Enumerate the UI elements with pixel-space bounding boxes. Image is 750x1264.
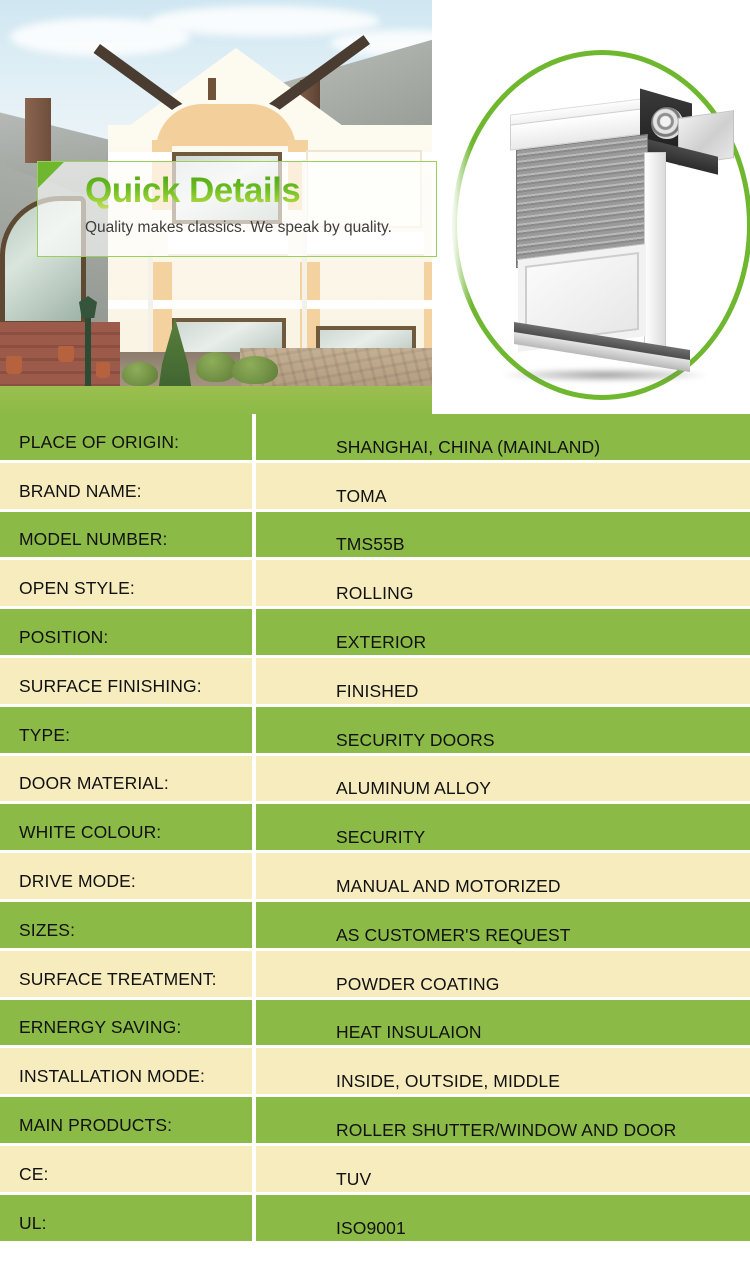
page-title: Quick Details [85,171,425,211]
spec-value: FINISHED [256,681,750,704]
product-drop-shadow [505,368,705,382]
flower-pot [96,362,110,378]
table-row: SURFACE TREATMENT:POWDER COATING [0,951,750,997]
page-subtitle: Quality makes classics. We speak by qual… [85,219,435,237]
table-row: DRIVE MODE:MANUAL AND MOTORIZED [0,853,750,899]
table-row: TYPE:SECURITY DOORS [0,707,750,753]
spec-label: BRAND NAME: [0,481,252,509]
window-frame-side [644,152,666,352]
flower-pot [58,346,74,362]
spec-label: DOOR MATERIAL: [0,773,252,801]
spec-label: DRIVE MODE: [0,871,252,899]
shrub [196,352,236,382]
lawn-strip [0,386,470,414]
spec-value: ROLLER SHUTTER/WINDOW AND DOOR [256,1120,750,1143]
arched-ornament [152,100,300,150]
corner-triangle-icon [38,162,64,188]
table-row: UL:ISO9001 [0,1195,750,1241]
spec-label: WHITE COLOUR: [0,822,252,850]
facade-band [108,300,448,309]
specification-table: PLACE OF ORIGIN:SHANGHAI, CHINA (MAINLAN… [0,414,750,1264]
shrub [232,356,278,384]
flower-pot [6,356,22,374]
spec-label: SIZES: [0,920,252,948]
spec-label: INSTALLATION MODE: [0,1066,252,1094]
banner-image: Quick Details Quality makes classics. We… [0,0,750,414]
table-row: MODEL NUMBER:TMS55B [0,512,750,558]
spec-value: TOMA [256,486,750,509]
table-row: INSTALLATION MODE:INSIDE, OUTSIDE, MIDDL… [0,1048,750,1094]
spec-label: PLACE OF ORIGIN: [0,432,252,460]
spec-value: ROLLING [256,583,750,606]
shrub [122,362,158,386]
table-row: MAIN PRODUCTS:ROLLER SHUTTER/WINDOW AND … [0,1097,750,1143]
chimney-left [25,98,51,163]
spec-value: HEAT INSULAION [256,1022,750,1045]
spec-label: ERNERGY SAVING: [0,1017,252,1045]
spec-label: OPEN STYLE: [0,578,252,606]
spec-label: MODEL NUMBER: [0,529,252,557]
spec-value: INSIDE, OUTSIDE, MIDDLE [256,1071,750,1094]
table-row: SURFACE FINISHING:FINISHED [0,658,750,704]
spec-value: EXTERIOR [256,632,750,655]
spec-value: AS CUSTOMER'S REQUEST [256,925,750,948]
spec-label: POSITION: [0,627,252,655]
table-row: POSITION:EXTERIOR [0,609,750,655]
table-row: PLACE OF ORIGIN:SHANGHAI, CHINA (MAINLAN… [0,414,750,460]
oval-left-fade [432,50,472,390]
table-row: CE:TUV [0,1146,750,1192]
table-row: SIZES:AS CUSTOMER'S REQUEST [0,902,750,948]
spec-value: MANUAL AND MOTORIZED [256,876,750,899]
spec-value: SECURITY [256,827,750,850]
spec-label: TYPE: [0,725,252,753]
spec-value: ALUMINUM ALLOY [256,778,750,801]
quick-details-box: Quick Details Quality makes classics. We… [37,161,437,257]
product-detail-page: Quick Details Quality makes classics. We… [0,0,750,1221]
table-row: ERNERGY SAVING:HEAT INSULAION [0,1000,750,1046]
garden-lamp-post [85,306,91,388]
spec-value: POWDER COATING [256,974,750,997]
table-row: WHITE COLOUR:SECURITY [0,804,750,850]
cloud [150,6,380,36]
spec-label: CE: [0,1164,252,1192]
table-row: BRAND NAME:TOMA [0,463,750,509]
spec-label: SURFACE FINISHING: [0,676,252,704]
table-row: OPEN STYLE:ROLLING [0,560,750,606]
table-bottom-spacer [0,1241,750,1264]
spec-label: UL: [0,1213,252,1241]
spec-value: SECURITY DOORS [256,730,750,753]
spec-value: TMS55B [256,534,750,557]
spec-value: SHANGHAI, CHINA (MAINLAND) [256,437,750,460]
table-row: DOOR MATERIAL:ALUMINUM ALLOY [0,756,750,802]
spec-label: MAIN PRODUCTS: [0,1115,252,1143]
spec-label: SURFACE TREATMENT: [0,969,252,997]
spec-value: TUV [256,1169,750,1192]
product-illustration [500,90,710,370]
